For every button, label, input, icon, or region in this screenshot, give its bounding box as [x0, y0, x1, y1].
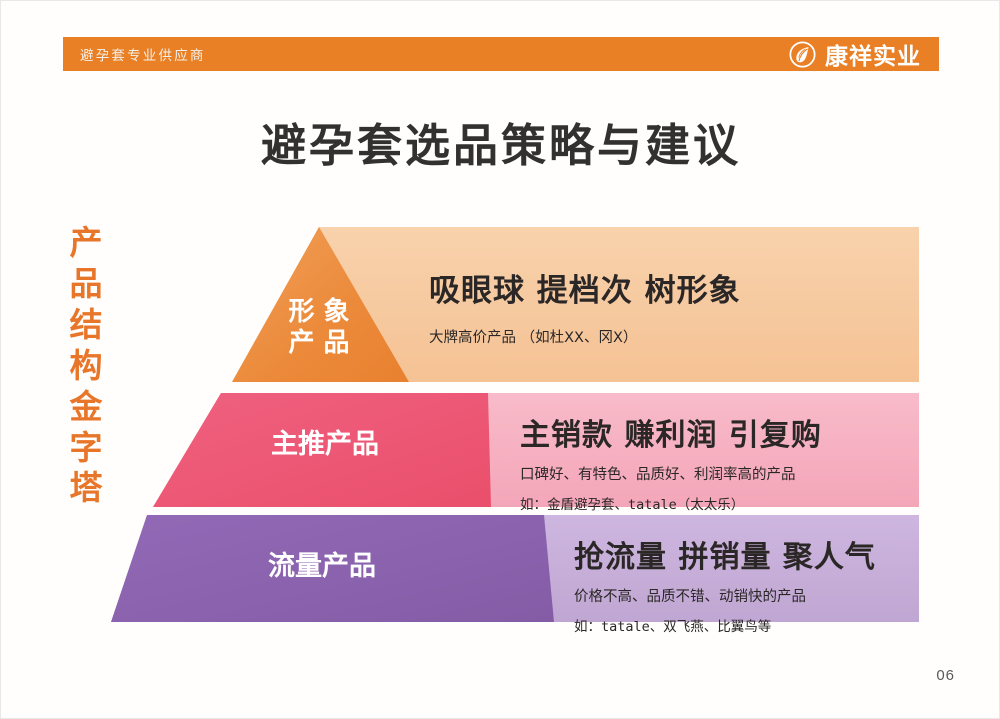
tier-2-headline: 主销款 赚利润 引复购 — [520, 410, 822, 454]
tier-1-content: 吸眼球 提档次 树形象 大牌高价产品 （如杜XX、冈X） — [429, 265, 741, 347]
tier-3-label: 流量产品 — [241, 551, 403, 583]
tier-1-label-line: 形 象 — [273, 297, 365, 328]
tier-3-subline: 价格不高、品质不错、动销快的产品 — [574, 585, 876, 606]
tier-1-subline: 大牌高价产品 （如杜XX、冈X） — [429, 326, 741, 347]
product-structure-pyramid: 形 象 产 品 吸眼球 提档次 树形象 大牌高价产品 （如杜XX、冈X） 主推产… — [1, 1, 1000, 719]
tier-3-headline: 抢流量 拼销量 聚人气 — [574, 532, 876, 576]
tier-2-label-line: 主推产品 — [245, 429, 405, 461]
tier-3-content: 抢流量 拼销量 聚人气 价格不高、品质不错、动销快的产品 如：tatale、双飞… — [574, 532, 876, 635]
tier-3-subline: 如：tatale、双飞燕、比翼鸟等 — [574, 615, 876, 635]
page-number: 06 — [936, 667, 955, 684]
slide-canvas: 避孕套专业供应商 康祥实业 避孕套选品策略与建议 产 品 结 构 金 字 塔 — [0, 0, 1000, 719]
tier-2-subline: 如：金盾避孕套、tatale（太太乐） — [520, 493, 822, 513]
tier-2-content: 主销款 赚利润 引复购 口碑好、有特色、品质好、利润率高的产品 如：金盾避孕套、… — [520, 410, 822, 513]
tier-2-subline: 口碑好、有特色、品质好、利润率高的产品 — [520, 463, 822, 484]
tier-1-label: 形 象 产 品 — [273, 297, 365, 358]
tier-1-label-line: 产 品 — [273, 328, 365, 359]
tier-3-label-line: 流量产品 — [241, 551, 403, 583]
tier-1-headline: 吸眼球 提档次 树形象 — [429, 265, 741, 310]
tier-2-label: 主推产品 — [245, 429, 405, 461]
